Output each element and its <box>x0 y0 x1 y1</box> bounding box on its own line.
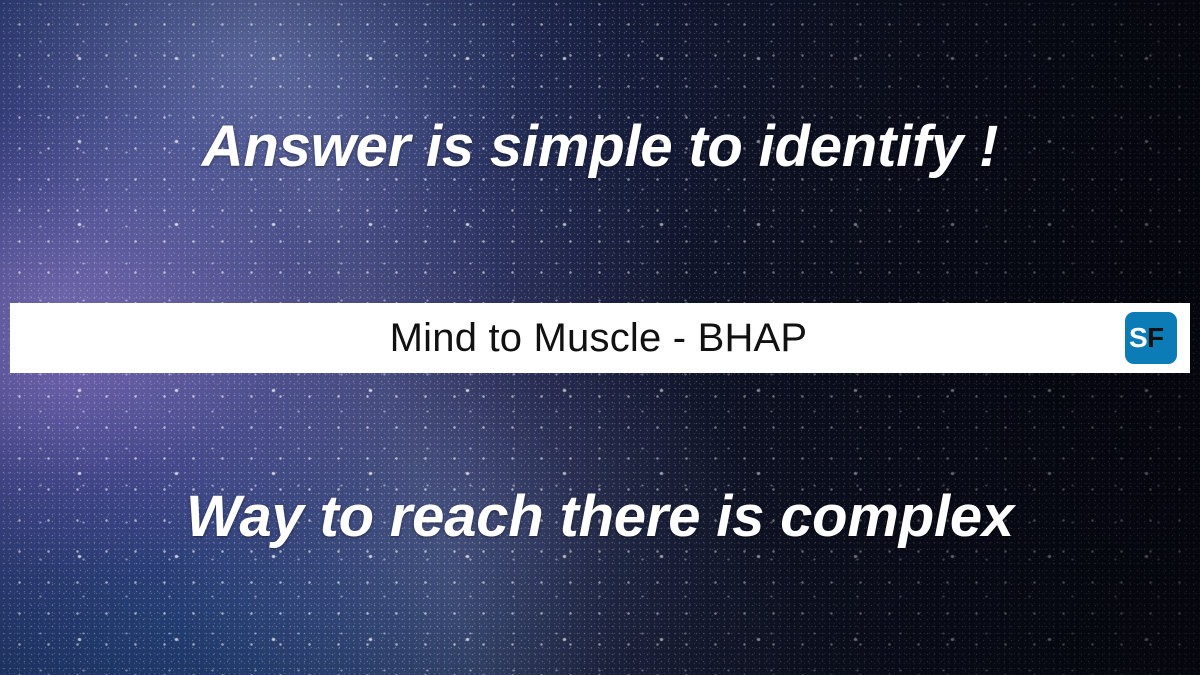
slide-canvas: Answer is simple to identify ! Mind to M… <box>0 0 1200 675</box>
svg-text:S: S <box>1129 323 1147 353</box>
headline-top: Answer is simple to identify ! <box>0 118 1200 176</box>
headline-bottom: Way to reach there is complex <box>0 488 1200 546</box>
sf-logo-icon[interactable]: S F <box>1125 312 1177 364</box>
svg-text:F: F <box>1147 323 1164 353</box>
title-banner: Mind to Muscle - BHAP S F <box>10 303 1190 373</box>
page-title: Mind to Muscle - BHAP <box>10 318 1125 358</box>
